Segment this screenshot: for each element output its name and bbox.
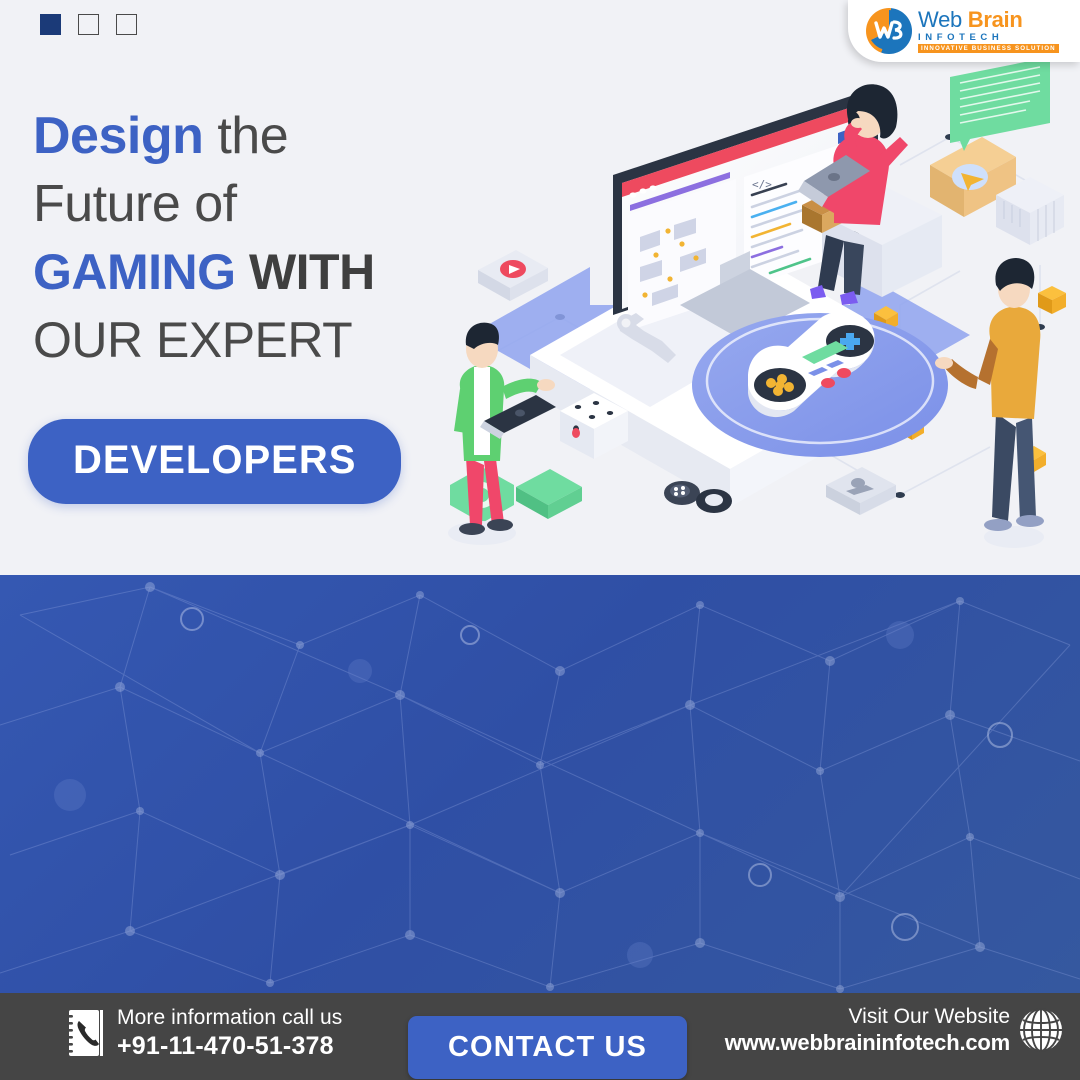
brand-tagline: INNOVATIVE BUSINESS SOLUTION: [918, 44, 1059, 53]
developers-pill: DEVELOPERS: [28, 419, 401, 504]
brand-logo[interactable]: Web Brain INFOTECH INNOVATIVE BUSINESS S…: [848, 0, 1080, 62]
headline-line-1: Design the: [33, 102, 463, 170]
brand-name-web: Web: [918, 7, 962, 32]
headline-line-2: Future of: [33, 170, 463, 238]
square-outline-icon-2: [116, 14, 137, 35]
features-section: Innovative Game Concepts & Design Cross-…: [0, 575, 1080, 993]
headline-line-4: OUR EXPERT: [33, 306, 463, 374]
call-info-block[interactable]: More information call us +91-11-470-51-3…: [66, 1006, 342, 1060]
headline-block: Design the Future of GAMING WITH OUR EXP…: [33, 102, 463, 374]
brand-name-brain: Brain: [968, 7, 1023, 32]
call-label: More information call us: [117, 1006, 342, 1030]
headline-line-3: GAMING WITH: [33, 238, 463, 306]
brand-name-row: Web Brain: [918, 9, 1059, 31]
headline-gaming-word: GAMING: [33, 244, 236, 300]
promo-banner: </>: [0, 0, 1080, 1080]
svg-text:</>: </>: [752, 178, 772, 191]
top-section: </>: [0, 0, 1080, 575]
square-filled-icon: [40, 14, 61, 35]
brand-sub: INFOTECH: [918, 33, 1059, 43]
network-pattern-background: [0, 575, 1080, 993]
brand-wordmark: Web Brain INFOTECH INNOVATIVE BUSINESS S…: [918, 9, 1059, 54]
website-label: Visit Our Website: [725, 1005, 1010, 1029]
website-block[interactable]: Visit Our Website www.webbraininfotech.c…: [725, 1005, 1064, 1055]
headline-design-word: Design: [33, 107, 203, 165]
square-outline-icon-1: [78, 14, 99, 35]
headline-with-word: WITH: [249, 244, 375, 300]
headline-the-word: the: [217, 107, 288, 165]
isometric-game-dev-illustration: </>: [430, 55, 1080, 555]
wb-monogram-icon: [866, 8, 912, 54]
phone-number[interactable]: +91-11-470-51-378: [117, 1032, 342, 1060]
website-url[interactable]: www.webbraininfotech.com: [725, 1030, 1010, 1055]
decorative-squares: [40, 14, 137, 35]
phone-book-icon: [66, 1009, 106, 1057]
globe-icon: [1018, 1007, 1064, 1053]
contact-us-button[interactable]: CONTACT US: [408, 1016, 687, 1079]
